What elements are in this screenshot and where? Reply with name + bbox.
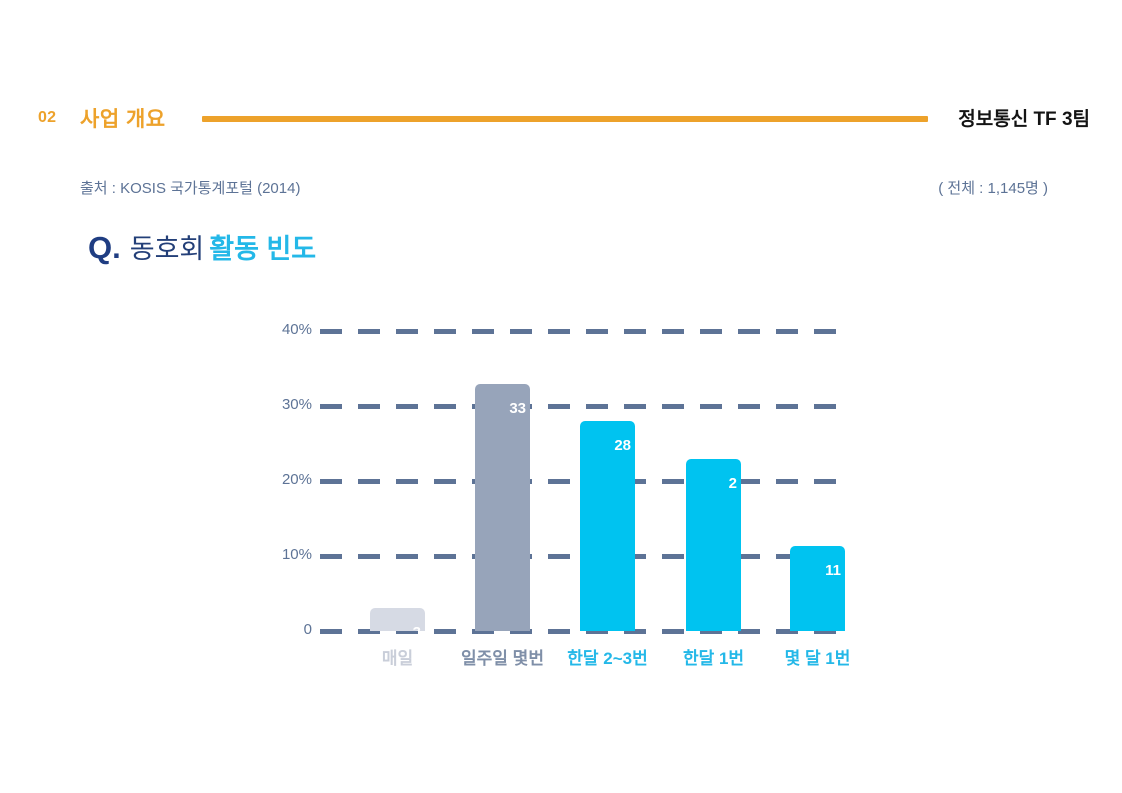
x-axis-category-label: 한달 1번: [683, 644, 744, 669]
chart-plot-area: 33328211: [320, 331, 840, 631]
y-axis-tick-label: 20%: [252, 471, 312, 488]
chart-bar[interactable]: 3: [370, 608, 425, 631]
x-axis-category-label: 한달 2~3번: [567, 644, 647, 669]
bar-chart: 40%30%20%10%0 33328211 매일일주일 몇번한달 2~3번한달…: [0, 0, 1122, 793]
bar-value-label: 28: [614, 437, 631, 454]
chart-bar[interactable]: 33: [475, 384, 530, 632]
y-axis-tick-label: 0: [252, 621, 312, 638]
gridline: [320, 404, 840, 409]
bar-value-label: 2: [729, 475, 737, 492]
gridline: [320, 329, 840, 334]
y-axis-tick-label: 10%: [252, 546, 312, 563]
chart-bar[interactable]: 2: [686, 459, 741, 631]
x-axis-category-label: 일주일 몇번: [461, 644, 544, 669]
bar-value-label: 3: [413, 624, 421, 631]
chart-bar[interactable]: 11: [790, 546, 845, 631]
y-axis-tick-label: 40%: [252, 321, 312, 338]
x-axis-category-label: 몇 달 1번: [785, 644, 851, 669]
bar-value-label: 11: [825, 562, 841, 579]
x-axis-category-label: 매일: [382, 644, 413, 669]
y-axis-tick-label: 30%: [252, 396, 312, 413]
bar-value-label: 33: [509, 400, 526, 417]
chart-bar[interactable]: 28: [580, 421, 635, 631]
